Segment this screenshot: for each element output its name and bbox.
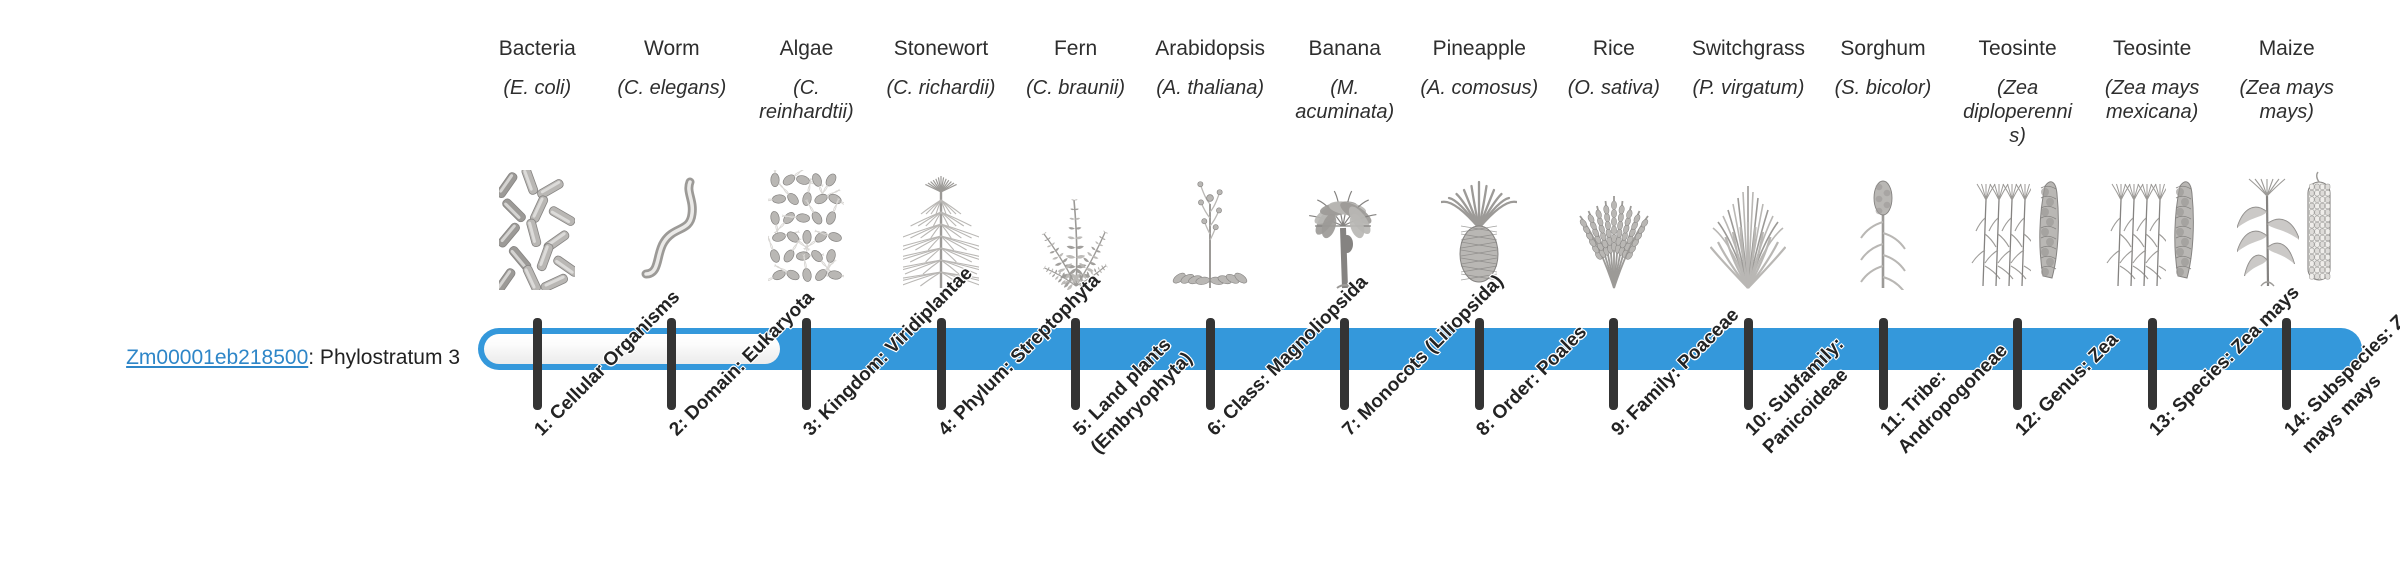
species-common-name: Worm	[613, 36, 731, 62]
phylostratum-tick-9[interactable]	[1609, 318, 1618, 410]
species-scientific-name: (S. bicolor)	[1824, 76, 1942, 100]
species-common-name: Maize	[2228, 36, 2346, 62]
species-common-name: Algae	[747, 36, 865, 62]
rice-icon	[1555, 170, 1673, 290]
species-scientific-name: (Zea mays mexicana)	[2093, 76, 2211, 124]
species-column-13: Teosinte(Zea mays mexicana)	[2093, 36, 2211, 124]
species-scientific-name: (C. reinhardtii)	[747, 76, 865, 124]
species-scientific-name: (A. comosus)	[1420, 76, 1538, 100]
species-common-name: Teosinte	[1959, 36, 2077, 62]
phylostratum-tick-4[interactable]	[937, 318, 946, 410]
species-column-2: Worm(C. elegans)	[613, 36, 731, 100]
rank-number: 12:	[2011, 406, 2045, 440]
species-scientific-name: (Zea diploperennis)	[1959, 76, 2077, 148]
species-scientific-name: (C. braunii)	[1017, 76, 1135, 100]
species-column-9: Rice(O. sativa)	[1555, 36, 1673, 100]
phylostratum-tick-7[interactable]	[1340, 318, 1349, 410]
teosinte-icon	[1959, 170, 2077, 290]
species-common-name: Rice	[1555, 36, 1673, 62]
species-common-name: Stonewort	[882, 36, 1000, 62]
phylostratum-tick-5[interactable]	[1071, 318, 1080, 410]
switchgrass-icon	[1689, 170, 1807, 290]
teosinte-icon	[2093, 170, 2211, 290]
species-scientific-name: (C. richardii)	[882, 76, 1000, 100]
species-column-12: Teosinte(Zea diploperennis)	[1959, 36, 2077, 148]
species-common-name: Sorghum	[1824, 36, 1942, 62]
species-common-name: Bacteria	[478, 36, 596, 62]
species-common-name: Pineapple	[1420, 36, 1538, 62]
banana-icon	[1286, 170, 1404, 290]
arabidopsis-icon	[1151, 170, 1269, 290]
gene-id-link[interactable]: Zm00001eb218500	[126, 346, 308, 369]
worm-icon	[613, 170, 731, 290]
maize-icon	[2228, 170, 2346, 290]
species-common-name: Banana	[1286, 36, 1404, 62]
species-column-8: Pineapple(A. comosus)	[1420, 36, 1538, 100]
species-scientific-name: (O. sativa)	[1555, 76, 1673, 100]
species-scientific-name: (Zea mays mays)	[2228, 76, 2346, 124]
phylostratum-tick-10[interactable]	[1744, 318, 1753, 410]
species-column-14: Maize(Zea mays mays)	[2228, 36, 2346, 124]
phylostratum-tick-1[interactable]	[533, 318, 542, 410]
species-common-name: Switchgrass	[1689, 36, 1807, 62]
species-column-3: Algae(C. reinhardtii)	[747, 36, 865, 124]
pineapple-icon	[1420, 170, 1538, 290]
phylostratum-tick-13[interactable]	[2148, 318, 2157, 410]
phylostratum-tick-14[interactable]	[2282, 318, 2291, 410]
sorghum-icon	[1824, 170, 1942, 290]
algae-icon	[747, 170, 865, 290]
species-scientific-name: (P. virgatum)	[1689, 76, 1807, 100]
rank-text: Subspecies: Zea mays mays	[2298, 296, 2400, 458]
species-column-4: Stonewort(C. richardii)	[882, 36, 1000, 100]
phylostratum-figure: Zm00001eb218500: Phylostratum 3 Bacteria…	[0, 0, 2400, 580]
species-scientific-name: (M. acuminata)	[1286, 76, 1404, 124]
stonewort-icon	[882, 170, 1000, 290]
species-scientific-name: (A. thaliana)	[1151, 76, 1269, 100]
rank-number: 13:	[2146, 406, 2180, 440]
species-scientific-name: (E. coli)	[478, 76, 596, 100]
species-column-5: Fern(C. braunii)	[1017, 36, 1135, 100]
species-common-name: Fern	[1017, 36, 1135, 62]
species-column-6: Arabidopsis(A. thaliana)	[1151, 36, 1269, 100]
species-column-1: Bacteria(E. coli)	[478, 36, 596, 100]
species-common-name: Teosinte	[2093, 36, 2211, 62]
fern-icon	[1017, 170, 1135, 290]
gene-phylostratum-text: : Phylostratum 3	[308, 346, 460, 369]
bacteria-icon	[478, 170, 596, 290]
phylostratum-tick-2[interactable]	[667, 318, 676, 410]
phylostratum-tick-3[interactable]	[802, 318, 811, 410]
species-column-10: Switchgrass(P. virgatum)	[1689, 36, 1807, 100]
species-common-name: Arabidopsis	[1151, 36, 1269, 62]
gene-label: Zm00001eb218500: Phylostratum 3	[40, 345, 460, 371]
species-column-7: Banana(M. acuminata)	[1286, 36, 1404, 124]
species-scientific-name: (C. elegans)	[613, 76, 731, 100]
phylostratum-tick-8[interactable]	[1475, 318, 1484, 410]
species-column-11: Sorghum(S. bicolor)	[1824, 36, 1942, 100]
